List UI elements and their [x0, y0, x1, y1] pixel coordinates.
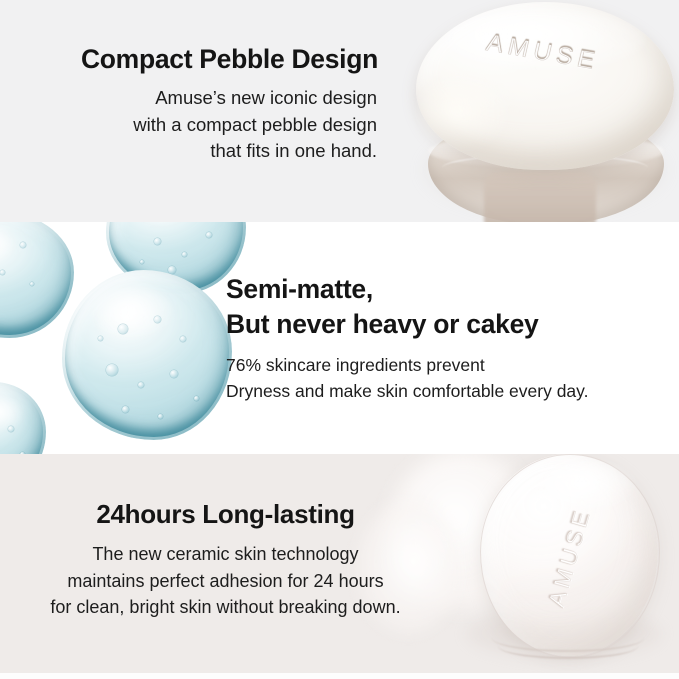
gel-droplet-highlight	[92, 288, 176, 342]
panel-semi-matte-body-line-2: Dryness and make skin comfortable every …	[226, 378, 676, 404]
pebble-compact-seam-2	[498, 633, 638, 659]
panel-semi-matte-text-block: Semi-matte, But never heavy or cakey 76%…	[226, 272, 676, 404]
gel-bubble	[122, 406, 129, 413]
gel-droplet-4	[0, 382, 46, 454]
panel-compact-body-line-2: with a compact pebble design	[0, 112, 386, 139]
panel-semi-matte-headline-line-2: But never heavy or cakey	[226, 307, 676, 342]
panel-compact-text-block: Compact Pebble Design Amuse’s new iconic…	[0, 42, 386, 165]
panel-24hours-body-line-3: for clean, bright skin without breaking …	[0, 594, 451, 621]
panel-semi-matte-body-line-1: 76% skincare ingredients prevent	[226, 352, 676, 378]
panel-semi-matte: Semi-matte, But never heavy or cakey 76%…	[0, 222, 679, 454]
panel-24hours-text-block: 24hours Long-lasting The new ceramic ski…	[0, 497, 451, 621]
panel-semi-matte-headline-line-1: Semi-matte,	[226, 272, 676, 307]
gel-bubble	[154, 238, 161, 245]
panel-compact-body-line-1: Amuse’s new iconic design	[0, 85, 386, 112]
gel-bubble	[30, 282, 34, 286]
gel-bubble	[194, 396, 199, 401]
product-image-cushion-compact: AMUSE	[404, 0, 679, 222]
panel-24hours-long-lasting: AMUSE 24hours Long-lasting The new ceram…	[0, 454, 679, 673]
gel-bubble	[106, 364, 118, 376]
gel-bubble	[140, 260, 144, 264]
gel-bubble	[170, 370, 178, 378]
gel-bubble	[8, 426, 14, 432]
gel-droplet-1	[0, 222, 74, 338]
gel-bubble	[180, 336, 186, 342]
panel-compact-body: Amuse’s new iconic design with a compact…	[0, 85, 386, 165]
panel-24hours-body: The new ceramic skin technology maintain…	[0, 541, 451, 621]
gel-bubble	[0, 270, 5, 275]
gel-bubble	[158, 414, 163, 419]
gel-bubble	[118, 324, 128, 334]
panel-compact-headline: Compact Pebble Design	[0, 42, 386, 76]
product-image-pebble-compact: AMUSE	[418, 454, 679, 673]
panel-24hours-headline: 24hours Long-lasting	[0, 497, 451, 531]
compact-lid-side-sheen	[420, 72, 512, 150]
panel-24hours-body-line-1: The new ceramic skin technology	[0, 541, 451, 568]
panel-compact-pebble-design: AMUSE Compact Pebble Design Amuse’s new …	[0, 0, 679, 222]
gel-bubble	[98, 336, 103, 341]
gel-bubble	[182, 252, 187, 257]
panel-compact-body-line-3: that fits in one hand.	[0, 138, 386, 165]
product-detail-image: AMUSE Compact Pebble Design Amuse’s new …	[0, 0, 679, 679]
bottom-edge-strip	[0, 673, 679, 679]
panel-24hours-body-line-2: maintains perfect adhesion for 24 hours	[0, 568, 451, 595]
gel-droplet-3	[62, 270, 232, 440]
gel-bubble	[206, 232, 212, 238]
gel-bubble	[20, 242, 26, 248]
panel-semi-matte-body: 76% skincare ingredients prevent Dryness…	[226, 352, 676, 404]
gel-bubble	[154, 316, 161, 323]
gel-bubble	[138, 382, 144, 388]
